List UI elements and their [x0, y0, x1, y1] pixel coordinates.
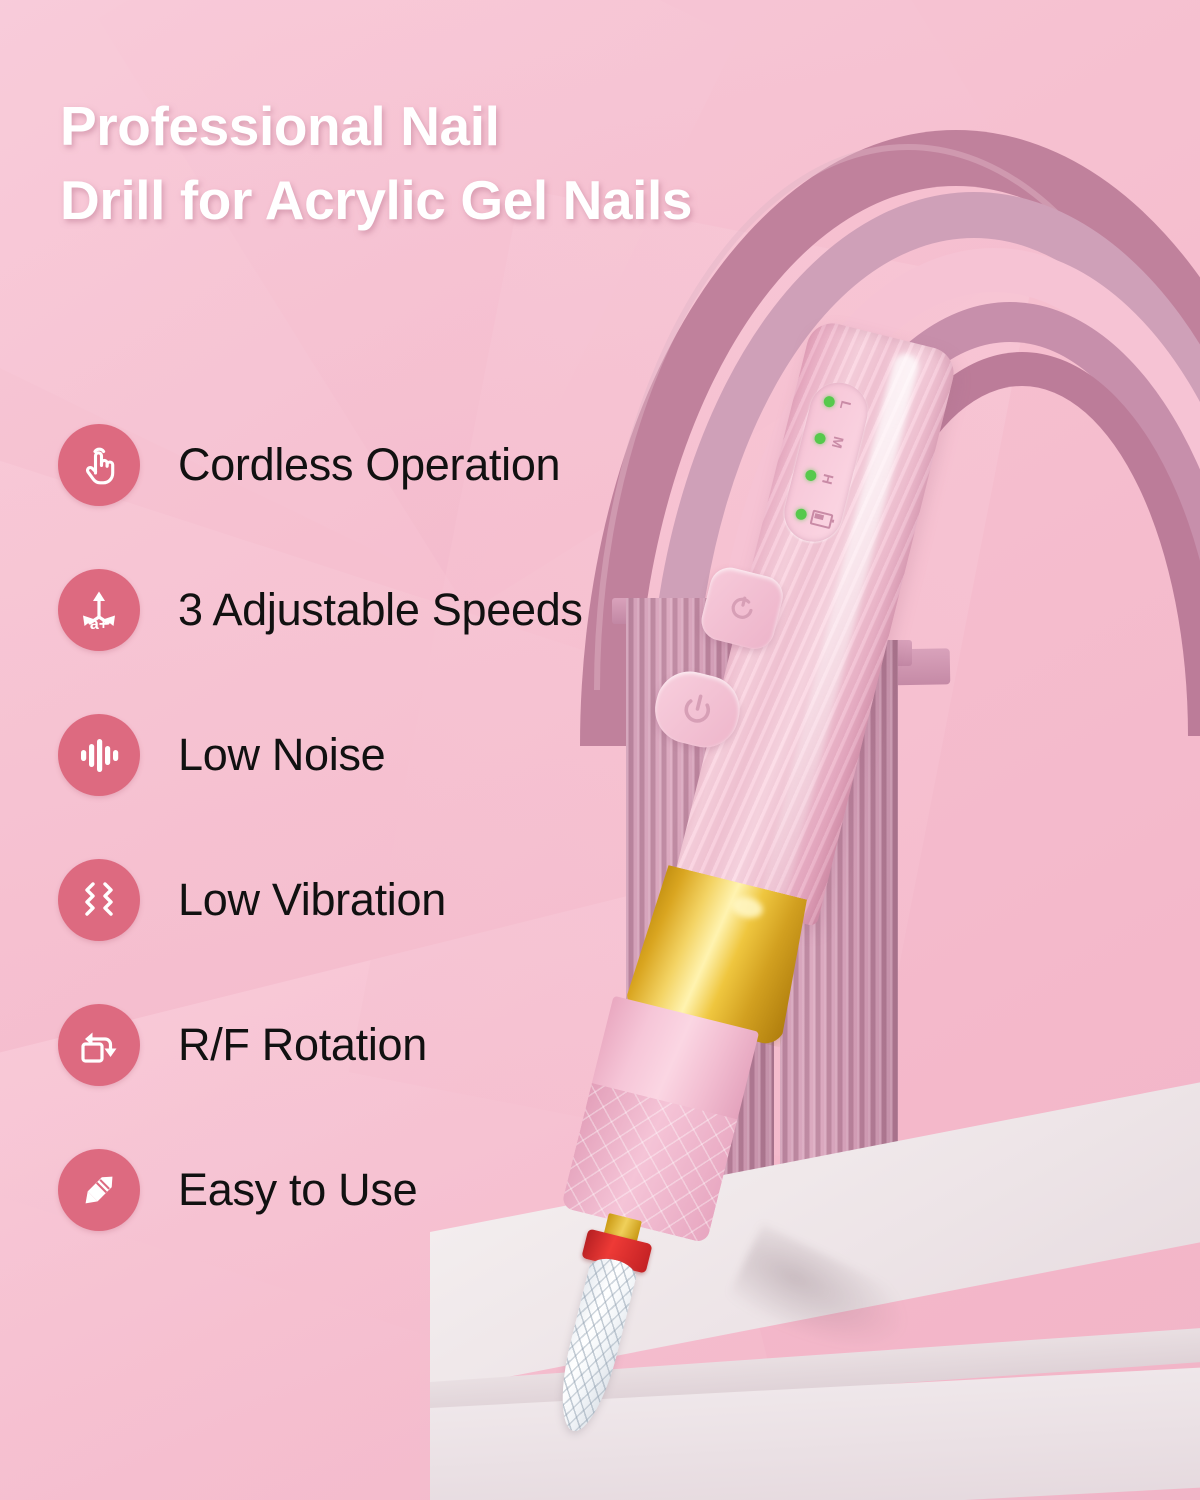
feature-label: Cordless Operation	[178, 439, 560, 491]
adjustable-icon-label: a+	[90, 616, 108, 633]
feature-label: Low Noise	[178, 729, 385, 781]
vibration-waves-icon	[58, 859, 140, 941]
feature-item-cordless-operation: Cordless Operation	[58, 392, 848, 537]
rotation-arrows-icon	[58, 1004, 140, 1086]
feature-label: Low Vibration	[178, 874, 446, 926]
pencil-icon	[58, 1149, 140, 1231]
headline-line-1: Professional Nail	[60, 95, 499, 157]
feature-item-low-vibration: Low Vibration	[58, 827, 848, 972]
product-infographic: L M H	[0, 0, 1200, 1500]
adjustable-arrows-icon: a+	[58, 569, 140, 651]
tap-hand-icon	[58, 424, 140, 506]
sound-wave-icon	[58, 714, 140, 796]
feature-item-low-noise: Low Noise	[58, 682, 848, 827]
feature-item-rf-rotation: R/F Rotation	[58, 972, 848, 1117]
feature-label: R/F Rotation	[178, 1019, 427, 1071]
feature-item-easy-to-use: Easy to Use	[58, 1117, 848, 1262]
feature-label: Easy to Use	[178, 1164, 417, 1216]
feature-label: 3 Adjustable Speeds	[178, 584, 583, 636]
headline-line-2: Drill for Acrylic Gel Nails	[60, 164, 960, 238]
page-title: Professional Nail Drill for Acrylic Gel …	[60, 90, 960, 237]
feature-list: Cordless Operation a+ 3 Adjustable Speed…	[58, 392, 848, 1262]
feature-item-adjustable-speeds: a+ 3 Adjustable Speeds	[58, 537, 848, 682]
